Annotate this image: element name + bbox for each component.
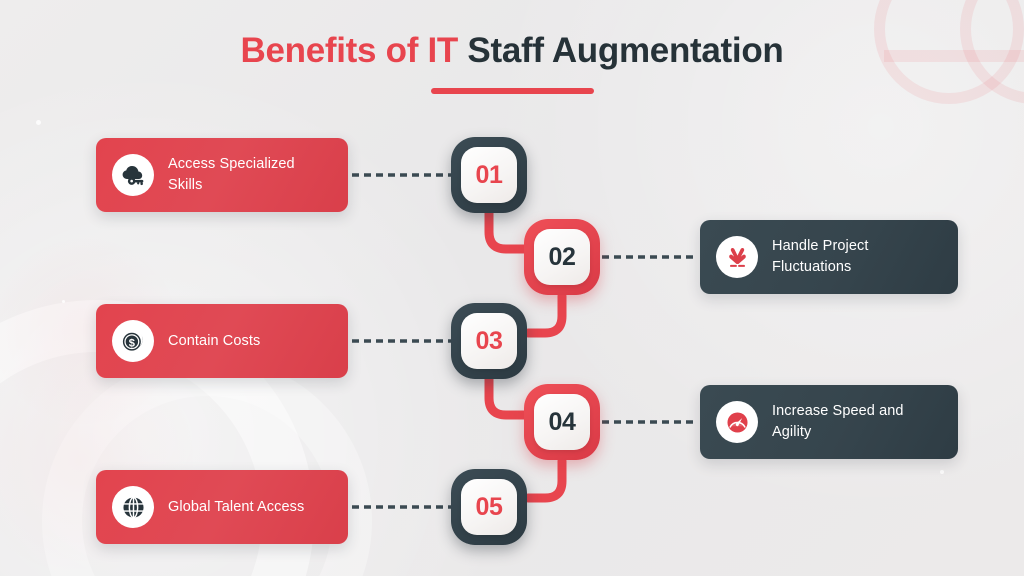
infographic-canvas: Benefits of IT Staff Augmentation <box>0 0 1024 576</box>
step-badge-inner: 04 <box>534 394 590 450</box>
benefit-card-global-talent-access[interactable]: Global Talent Access <box>96 470 348 544</box>
step-badge-inner: 02 <box>534 229 590 285</box>
globe-icon <box>112 486 154 528</box>
step-badge-inner: 05 <box>461 479 517 535</box>
step-badge-number: 01 <box>475 161 502 190</box>
step-badge-number: 04 <box>548 408 575 437</box>
step-badge-05[interactable]: 05 <box>451 469 527 545</box>
benefit-card-label: Global Talent Access <box>168 497 304 518</box>
page-title-accent: Benefits of IT <box>241 31 468 70</box>
pipe-badge4-to-badge5 <box>528 461 562 498</box>
benefit-card-handle-project-fluctuations[interactable]: Handle Project Fluctuations <box>700 220 958 294</box>
title-block: Benefits of IT Staff Augmentation <box>0 32 1024 94</box>
step-badge-inner: 01 <box>461 147 517 203</box>
benefit-card-label: Handle Project Fluctuations <box>772 236 942 277</box>
step-badge-02[interactable]: 02 <box>524 219 600 295</box>
step-badge-01[interactable]: 01 <box>451 137 527 213</box>
page-title-main: Staff Augmentation <box>467 31 783 70</box>
benefit-card-label: Contain Costs <box>168 331 260 352</box>
benefit-card-contain-costs[interactable]: $ Contain Costs <box>96 304 348 378</box>
cloud-key-icon <box>112 154 154 196</box>
page-title: Benefits of IT Staff Augmentation <box>0 32 1024 71</box>
speck-dot <box>62 300 65 303</box>
speedometer-icon <box>716 401 758 443</box>
step-badge-number: 02 <box>548 243 575 272</box>
pipe-badge3-to-badge4 <box>489 379 524 415</box>
step-badge-inner: 03 <box>461 313 517 369</box>
speck-dot <box>940 470 944 474</box>
benefit-card-label: Increase Speed and Agility <box>772 401 942 442</box>
step-badge-03[interactable]: 03 <box>451 303 527 379</box>
speck-dot <box>36 120 41 125</box>
benefit-card-label: Access Specialized Skills <box>168 154 332 195</box>
dollar-coin-icon: $ <box>112 320 154 362</box>
step-badge-04[interactable]: 04 <box>524 384 600 460</box>
step-badge-number: 05 <box>475 493 502 522</box>
benefit-card-access-specialized-skills[interactable]: Access Specialized Skills <box>96 138 348 212</box>
open-hands-icon <box>716 236 758 278</box>
pipe-badge2-to-badge3 <box>528 296 562 333</box>
step-badge-number: 03 <box>475 327 502 356</box>
pipe-badge1-to-badge2 <box>489 212 524 249</box>
title-underline <box>431 88 594 94</box>
benefit-card-increase-speed-and-agility[interactable]: Increase Speed and Agility <box>700 385 958 459</box>
svg-text:$: $ <box>128 337 134 349</box>
